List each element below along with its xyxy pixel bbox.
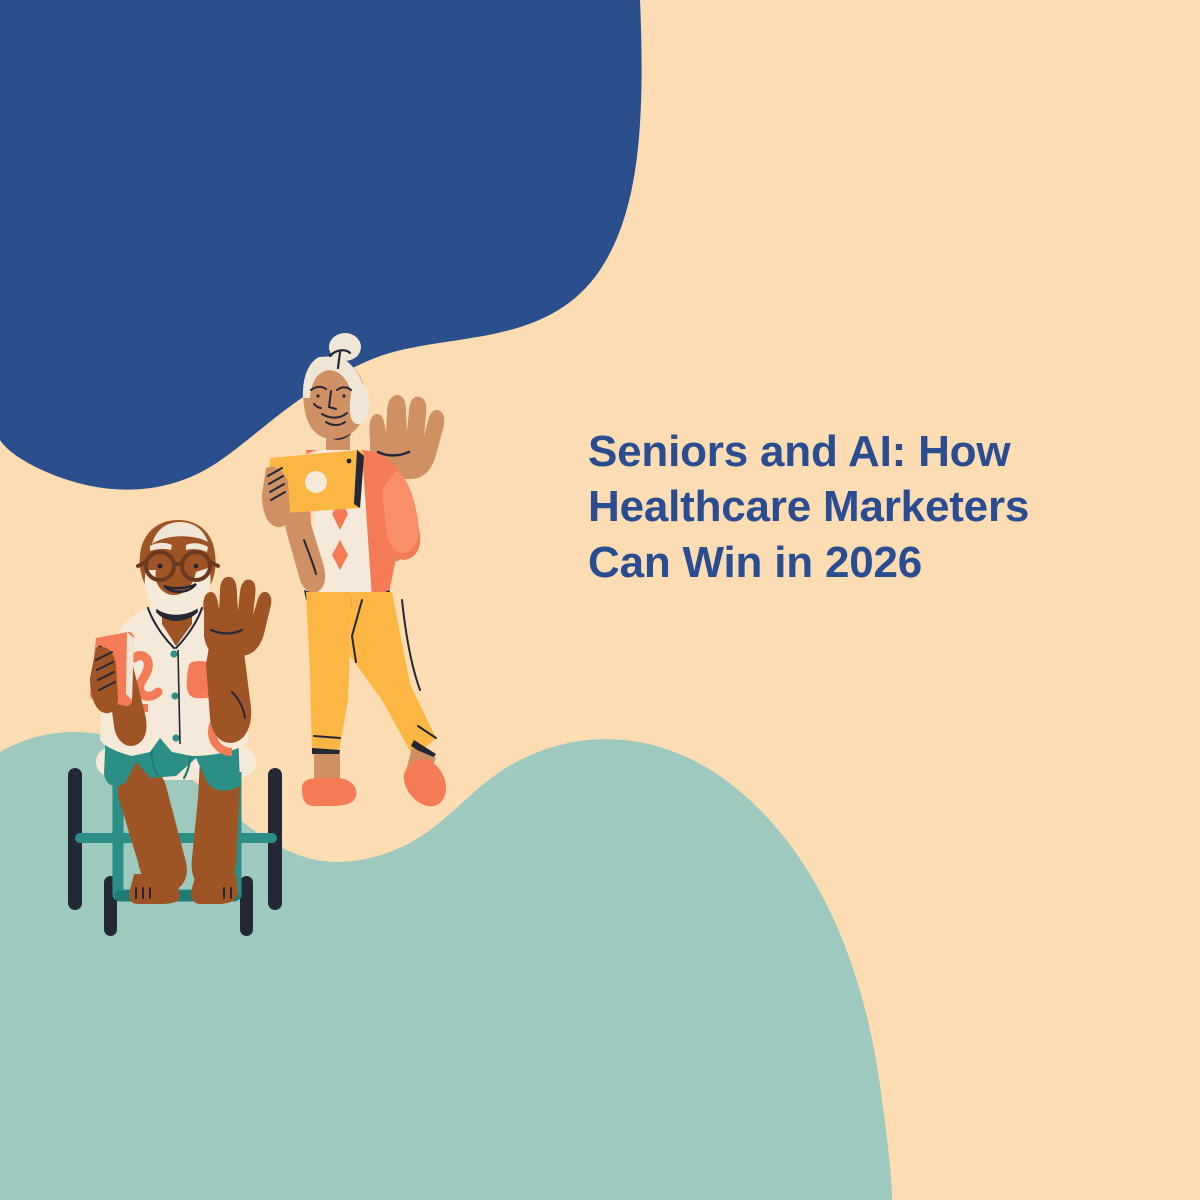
woman-shoe-left[interactable] — [302, 778, 356, 806]
man-shirt-button-1 — [170, 650, 177, 657]
tablet-camera-dot — [347, 459, 352, 464]
headline-block: Seniors and AI: How Healthcare Marketers… — [588, 424, 1068, 590]
illustration-artwork — [0, 0, 1200, 1200]
man-shirt-button-3 — [172, 734, 179, 741]
woman-hair-bun — [329, 333, 361, 361]
man-shirt-button-2 — [171, 692, 178, 699]
wheelchair-caster-right — [240, 876, 253, 936]
poster-canvas: Seniors and AI: How Healthcare Marketers… — [0, 0, 1200, 1200]
page-title: Seniors and AI: How Healthcare Marketers… — [588, 424, 1068, 590]
tablet-home-button[interactable] — [305, 471, 327, 493]
